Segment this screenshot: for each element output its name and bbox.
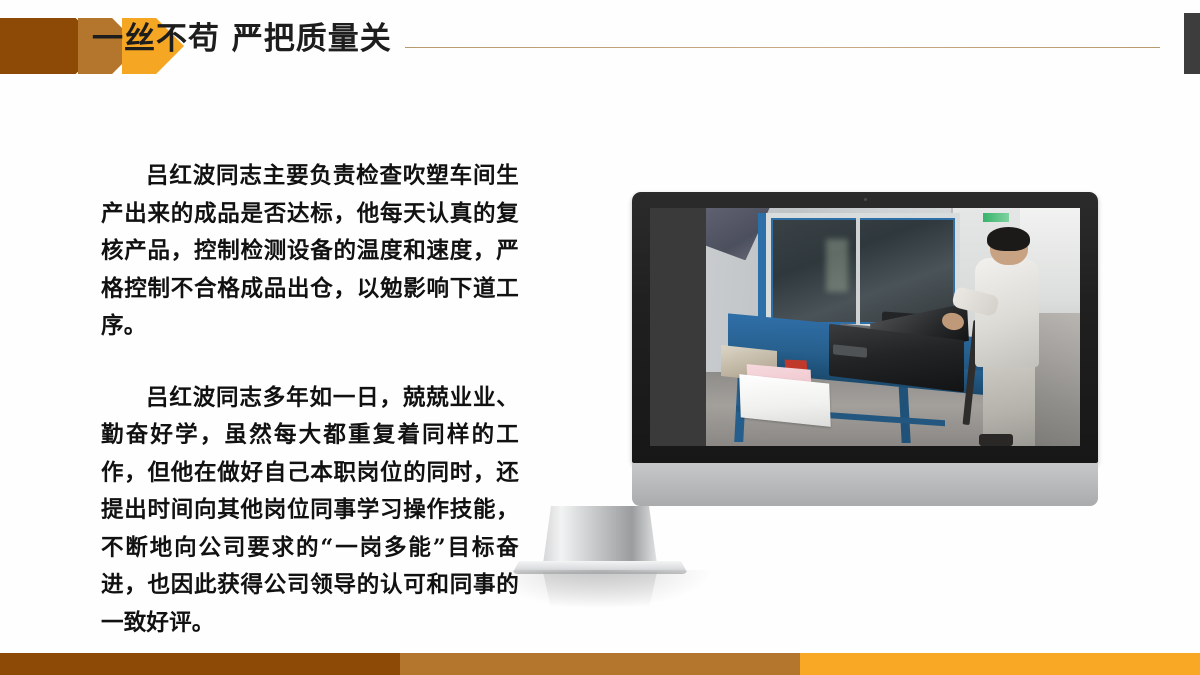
footer-segment-orange bbox=[800, 653, 1200, 675]
footer-color-bar bbox=[0, 653, 1200, 675]
workshop-photo bbox=[706, 208, 1080, 446]
page-title: 一丝不苟 严把质量关 bbox=[92, 16, 392, 62]
footer-segment-dark-brown bbox=[0, 653, 400, 675]
paragraph-1: 吕红波同志主要负责检查吹塑车间生产出来的成品是否达标，他每天认真的复核产品，控制… bbox=[101, 158, 519, 346]
photo-window-mullion bbox=[856, 218, 860, 325]
right-edge-tab bbox=[1184, 13, 1200, 74]
footer-segment-mid-brown bbox=[400, 653, 800, 675]
monitor-stand-neck bbox=[543, 506, 657, 564]
header-divider-line bbox=[405, 47, 1160, 48]
photo-green-sign bbox=[983, 213, 1009, 223]
monitor-mockup bbox=[632, 192, 1098, 506]
photo-worker-hair bbox=[987, 227, 1030, 251]
photo-worker-legs bbox=[983, 358, 1035, 446]
slide-canvas: 一丝不苟 严把质量关 吕红波同志主要负责检查吹塑车间生产出来的成品是否达标，他每… bbox=[0, 0, 1200, 675]
paragraph-2: 吕红波同志多年如一日，兢兢业业、勤奋好学，虽然每大都重复着同样的工作，但他在做好… bbox=[101, 380, 519, 643]
photo-window-glare bbox=[826, 239, 848, 292]
monitor-reflection bbox=[543, 572, 657, 608]
body-text-column: 吕红波同志主要负责检查吹塑车间生产出来的成品是否达标，他每天认真的复核产品，控制… bbox=[101, 158, 519, 642]
webcam-icon bbox=[864, 198, 867, 201]
monitor-screen bbox=[650, 208, 1080, 446]
monitor-chin bbox=[632, 463, 1098, 506]
photo-worker-shoe bbox=[979, 434, 1013, 446]
monitor-bezel bbox=[632, 192, 1098, 463]
slide-header: 一丝不苟 严把质量关 bbox=[0, 0, 1200, 90]
